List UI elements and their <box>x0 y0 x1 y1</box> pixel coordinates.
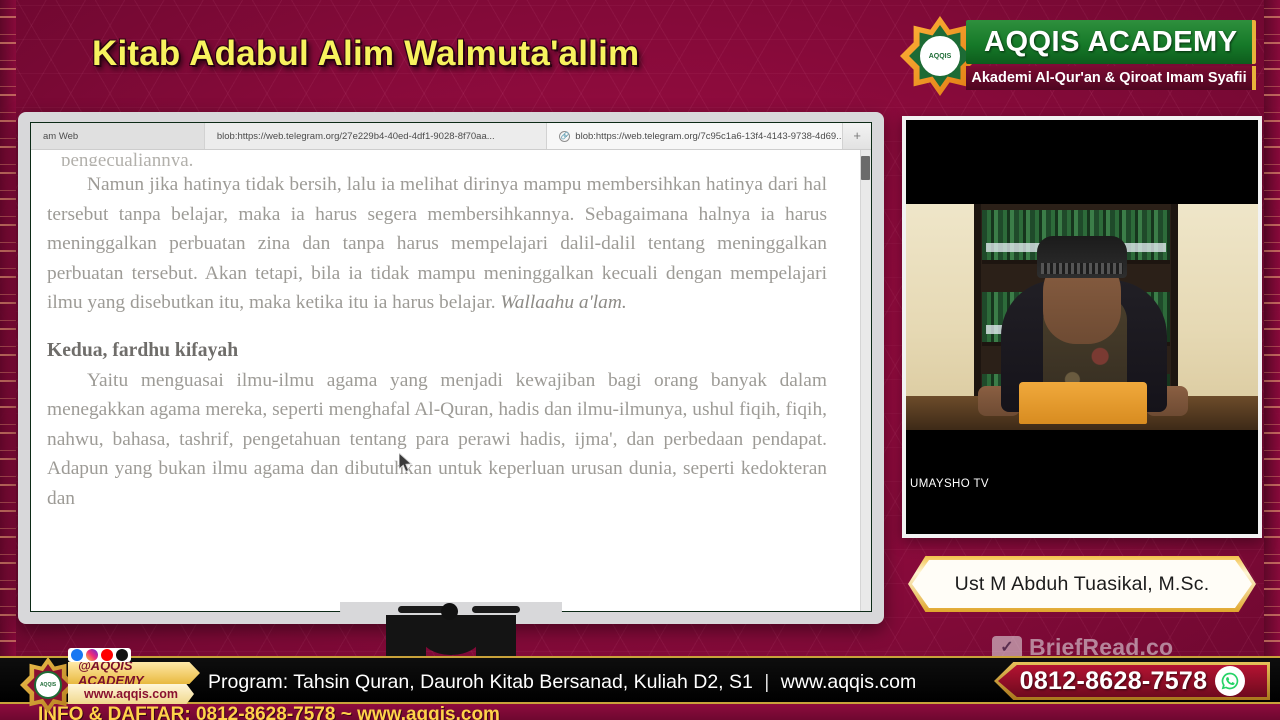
section-heading: Kedua, fardhu kifayah <box>47 340 827 362</box>
footer-program-text: Program: Tahsin Quran, Dauroh Kitab Bers… <box>208 671 916 694</box>
phone-number: 0812-8628-7578 <box>1020 667 1208 696</box>
brand-logo: AQQIS AQQIS ACADEMY Akademi Al-Qur'an & … <box>900 20 1256 92</box>
check-glyph: ✓ <box>1000 640 1013 656</box>
scrollbar-thumb[interactable] <box>861 156 870 180</box>
laptop-frame: am Web blob:https://web.telegram.org/27e… <box>18 112 884 624</box>
badge-website: www.aqqis.com <box>68 684 194 704</box>
tab-label: blob:https://web.telegram.org/27e229b4-4… <box>217 131 495 142</box>
vertical-scrollbar[interactable] <box>860 150 871 611</box>
logo-seal-badge: AQQIS <box>918 34 962 78</box>
logo-star-inner: AQQIS <box>909 25 971 87</box>
tab-label: am Web <box>43 131 78 142</box>
speaker-nameplate: Ust M Abduh Tuasikal, M.Sc. <box>908 556 1256 612</box>
left-ornament-border <box>0 0 16 720</box>
browser-tab[interactable]: am Web <box>31 123 205 149</box>
footer-phone-pill[interactable]: 0812-8628-7578 <box>994 662 1270 700</box>
browser-tab[interactable]: blob:https://web.telegram.org/27e229b4-4… <box>205 123 547 149</box>
footer-logo-star-icon: AQQIS <box>20 657 76 713</box>
paragraph-1: Namun jika hatinya tidak bersih, lalu ia… <box>47 170 827 318</box>
instagram-icon[interactable] <box>86 649 98 661</box>
book-page-content: pengecualiannya. Namun jika hatinya tida… <box>31 150 871 513</box>
laptop-foot <box>420 615 482 655</box>
tiktok-icon[interactable] <box>116 649 128 661</box>
tab-label: blob:https://web.telegram.org/7c95c1a6-1… <box>575 131 843 142</box>
speaker-laptop <box>1019 382 1147 424</box>
paragraph-2: Yaitu menguasai ilmu-ilmu agama yang men… <box>47 366 827 514</box>
bezel-camera-dot <box>441 603 458 620</box>
paragraph-1-italic: Wallaahu a'lam. <box>500 292 626 313</box>
video-watermark: UMAYSHO TV <box>910 478 989 490</box>
new-tab-button[interactable]: + <box>843 123 871 149</box>
speaker-name: Ust M Abduh Tuasikal, M.Sc. <box>955 573 1210 596</box>
nameplate-surface: Ust M Abduh Tuasikal, M.Sc. <box>912 560 1252 608</box>
link-icon: 🔗 <box>559 131 570 142</box>
whatsapp-icon[interactable] <box>1215 666 1245 696</box>
brand-name: AQQIS ACADEMY <box>966 20 1256 64</box>
logo-text-block: AQQIS ACADEMY Akademi Al-Qur'an & Qiroat… <box>966 20 1256 90</box>
bezel-slot-left <box>398 606 446 613</box>
footer-logo-star-inner: AQQIS <box>27 664 69 706</box>
browser-tab-active[interactable]: 🔗 blob:https://web.telegram.org/7c95c1a6… <box>547 123 843 149</box>
kopiah-band <box>1041 263 1123 274</box>
footer-logo-seal: AQQIS <box>34 671 62 699</box>
page-title: Kitab Adabul Alim Walmuta'allim <box>92 34 639 74</box>
speaker-kopiah-cap <box>1037 236 1127 278</box>
document-viewport[interactable]: pengecualiannya. Namun jika hatinya tida… <box>31 150 871 611</box>
youtube-icon[interactable] <box>101 649 113 661</box>
video-scene <box>906 204 1258 430</box>
facebook-icon[interactable] <box>71 649 83 661</box>
slide-stage: Kitab Adabul Alim Walmuta'allim AQQIS AQ… <box>0 0 1280 720</box>
footer-separator: | <box>758 671 775 693</box>
speaker-video-panel[interactable]: UMAYSHO TV <box>902 116 1262 538</box>
laptop-leg-right <box>476 615 516 659</box>
paragraph-1-text: Namun jika hatinya tidak bersih, lalu ia… <box>47 174 827 313</box>
brand-subtitle: Akademi Al-Qur'an & Qiroat Imam Syafii <box>966 66 1256 90</box>
screenshare-laptop: am Web blob:https://web.telegram.org/27e… <box>18 112 884 624</box>
clipped-text-line: pengecualiannya. <box>47 150 827 166</box>
social-handle: @AQQIS ACADEMY <box>68 662 200 684</box>
social-icons-row <box>68 648 131 662</box>
footer-program-label: Program: Tahsin Quran, Dauroh Kitab Bers… <box>208 671 753 693</box>
bezel-slot-right <box>472 606 520 613</box>
laptop-base <box>340 602 562 622</box>
phone-pill-surface: 0812-8628-7578 <box>998 665 1267 697</box>
browser-window: am Web blob:https://web.telegram.org/27e… <box>30 122 872 612</box>
laptop-bezel <box>340 602 562 615</box>
footer-brand-badge: AQQIS @AQQIS ACADEMY www.aqqis.com <box>10 648 210 716</box>
browser-tab-bar: am Web blob:https://web.telegram.org/27e… <box>31 123 871 150</box>
video-surface: UMAYSHO TV <box>906 120 1258 534</box>
header: Kitab Adabul Alim Walmuta'allim AQQIS AQ… <box>0 0 1280 108</box>
right-ornament-border <box>1264 0 1280 720</box>
footer-website: www.aqqis.com <box>781 671 916 693</box>
